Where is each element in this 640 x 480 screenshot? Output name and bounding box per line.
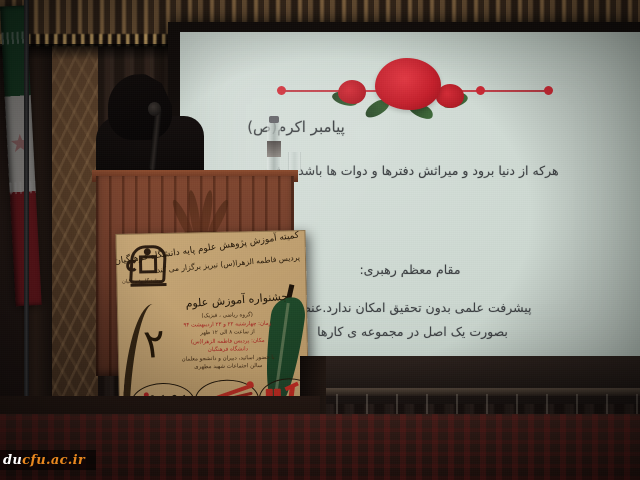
rose-divider-icon — [280, 84, 550, 98]
watermark-domain: cfu.ac.ir — [22, 453, 85, 468]
table-legs — [306, 394, 640, 416]
ornament-dot — [476, 86, 485, 95]
carpet — [0, 414, 640, 480]
slide-title: پیامبر اکرم(ص) — [0, 118, 592, 136]
poster-header: کمیته آموزش پژوهش علوم پایه دانشگاه فرهن… — [172, 238, 301, 269]
university-logo-caption: دانشگاه فرهنگیان — [118, 278, 162, 285]
speaker-person — [96, 78, 204, 178]
poster-numeral: ۲ — [142, 320, 168, 368]
watermark: du cfu.ac.ir — [0, 450, 96, 470]
ornament-dot — [277, 86, 286, 95]
water-bottle-label — [267, 141, 281, 157]
flag-kufic-band-bottom — [9, 181, 36, 194]
watermark-prefix: du — [3, 453, 22, 468]
drinking-glass — [288, 152, 301, 172]
rose-large-icon — [375, 58, 441, 110]
poster-details: (گروه ریاضی ، فیزیک) زمان: چهارشنبه ۲۲ و… — [175, 311, 280, 373]
microphone-icon — [148, 102, 161, 116]
flag-pole — [24, 0, 29, 420]
ornament-dot — [544, 86, 553, 95]
speaker-headscarf — [108, 74, 172, 140]
water-bottle-cap — [269, 116, 279, 123]
conference-photograph: پیامبر اکرم(ص) هرکه از دنیا برود و میراث… — [0, 0, 640, 480]
rose-small-icon — [338, 80, 366, 104]
patterned-curtain-panel — [52, 0, 98, 440]
iran-national-emblem-icon — [178, 186, 224, 238]
